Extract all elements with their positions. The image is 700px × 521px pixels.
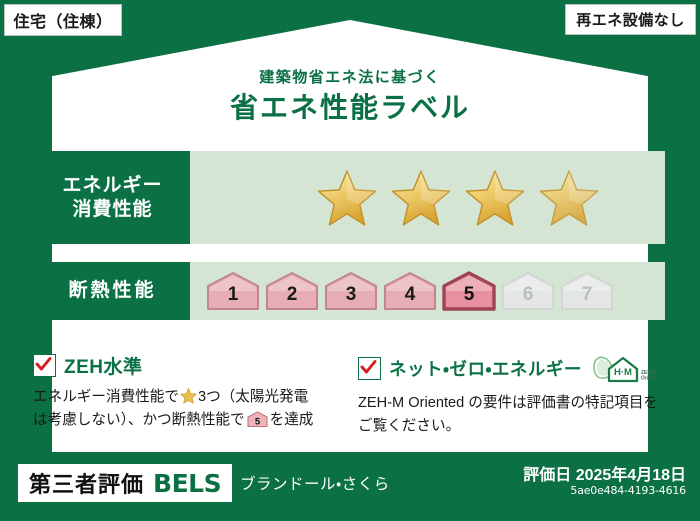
star-icon <box>390 168 452 228</box>
insulation-grade-value: 6 <box>523 284 534 311</box>
net-zero-energy-block: ネット・ゼロ・エネルギー H·M ZEH-M Oriented ZEH-M Or… <box>358 352 670 437</box>
insulation-performance-row-label: 断熱性能 <box>35 262 190 320</box>
insulation-performance-row: 断熱性能 1234567 <box>35 262 665 320</box>
zeh-check-header: ZEH水準 <box>33 352 343 379</box>
building-name: ブランドール・さくら <box>240 472 390 494</box>
zeh-standard-block: ZEH水準 エネルギー消費性能で3つ（太陽光発電は考慮しない）、かつ断熱性能で5… <box>33 352 343 431</box>
check-icon <box>360 359 377 376</box>
insulation-grade-1: 1 <box>206 271 260 311</box>
insulation-label: 断熱性能 <box>68 279 156 303</box>
insulation-grade-4: 4 <box>383 271 437 311</box>
insulation-grade-5: 5 <box>442 271 496 311</box>
energy-performance-row-label: エネルギー 消費性能 <box>35 151 190 244</box>
insulation-grade-7: 7 <box>560 271 614 311</box>
insulation-grade-6: 6 <box>501 271 555 311</box>
zeh-description: エネルギー消費性能で3つ（太陽光発電は考慮しない）、かつ断熱性能で5を達成 <box>33 386 343 431</box>
bels-en-label: BELS <box>153 469 221 498</box>
svg-text:5: 5 <box>254 416 260 427</box>
page-title: 省エネ性能ラベル <box>0 86 700 126</box>
netzero-check-header: ネット・ゼロ・エネルギー H·M ZEH-M Oriented <box>358 352 670 385</box>
energy-performance-label: 住宅（住棟） 再エネ設備なし 建築物省エネ法に基づく 省エネ性能ラベル エネルギ… <box>0 0 700 521</box>
bels-certification-badge: 第三者評価 BELS <box>18 464 232 502</box>
star-icon <box>464 168 526 228</box>
svg-text:Oriented: Oriented <box>641 376 656 382</box>
inline-grade-icon: 5 <box>247 411 268 428</box>
check-icon <box>35 356 52 373</box>
svg-text:H·M: H·M <box>614 367 632 378</box>
insulation-grade-value: 4 <box>405 284 416 311</box>
star-icon <box>538 168 600 228</box>
insulation-grade-value: 2 <box>287 284 298 311</box>
star-rating <box>190 151 665 244</box>
label-subtitle: 建築物省エネ法に基づく <box>0 66 700 87</box>
insulation-grade-3: 3 <box>324 271 378 311</box>
insulation-grade-value: 1 <box>228 284 239 311</box>
netzero-title: ネット・ゼロ・エネルギー <box>389 356 582 381</box>
inline-star-icon <box>180 388 197 404</box>
tag-renewable-energy: 再エネ設備なし <box>565 4 696 35</box>
insulation-grade-value: 5 <box>464 284 475 311</box>
zeh-checkbox <box>33 354 56 377</box>
zeh-desc-star-count: 3つ（太陽光発電 <box>198 389 308 405</box>
label-footer: 第三者評価 BELS ブランドール・さくら 評価日 2025年4月18日 5ae… <box>0 452 700 521</box>
energy-label-line1: エネルギー <box>62 174 162 198</box>
energy-performance-row: エネルギー 消費性能 <box>35 151 665 244</box>
tag-renewable-energy-label: 再エネ設備なし <box>576 9 685 30</box>
zeh-desc-part3: を達成 <box>270 412 314 428</box>
zeh-desc-part2: は考慮しない）、かつ断熱性能で <box>33 412 245 428</box>
tag-building-type-label: 住宅（住棟） <box>13 8 112 32</box>
bels-jp-label: 第三者評価 <box>29 467 144 499</box>
netzero-checkbox <box>358 357 381 380</box>
zeh-m-oriented-logo-icon: H·M ZEH-M Oriented <box>592 352 656 385</box>
netzero-description: ZEH-M Oriented の要件は評価書の特記項目をご覧ください。 <box>358 392 670 437</box>
star-icon <box>316 168 378 228</box>
insulation-grade-value: 7 <box>582 284 593 311</box>
zeh-desc-part1: エネルギー消費性能で <box>33 389 179 405</box>
insulation-grade-2: 2 <box>265 271 319 311</box>
energy-label-line2: 消費性能 <box>72 198 152 222</box>
tag-building-type: 住宅（住棟） <box>4 4 122 36</box>
evaluation-id: 5ae0e484-4193-4616 <box>570 484 686 497</box>
insulation-grade-scale: 1234567 <box>190 262 665 320</box>
evaluation-date: 評価日 2025年4月18日 <box>523 461 686 485</box>
zeh-title: ZEH水準 <box>64 352 143 379</box>
insulation-grade-value: 3 <box>346 284 357 311</box>
